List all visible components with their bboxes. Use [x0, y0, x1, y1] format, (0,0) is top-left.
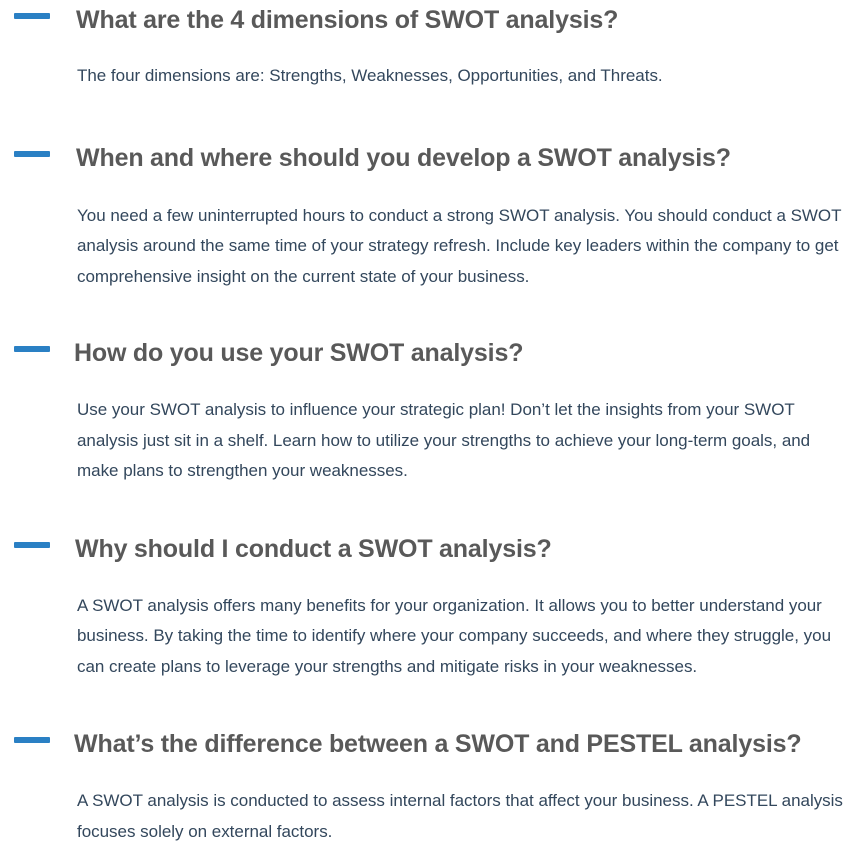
faq-answer-1: You need a few uninterrupted hours to co…	[77, 201, 847, 293]
faq-item: What are the 4 dimensions of SWOT analys…	[0, 0, 859, 92]
faq-item: When and where should you develop a SWOT…	[0, 138, 859, 293]
faq-question-4: What’s the difference between a SWOT and…	[74, 724, 842, 764]
faq-answer-0: The four dimensions are: Strengths, Weak…	[77, 61, 847, 92]
faq-item: Why should I conduct a SWOT analysis? A …	[0, 529, 859, 683]
faq-question-1: When and where should you develop a SWOT…	[76, 138, 844, 178]
minus-icon[interactable]	[14, 346, 50, 352]
faq-item: What’s the difference between a SWOT and…	[0, 724, 859, 847]
minus-icon[interactable]	[14, 737, 50, 743]
faq-item-header-2[interactable]: How do you use your SWOT analysis?	[0, 333, 859, 373]
faq-item-header-0[interactable]: What are the 4 dimensions of SWOT analys…	[0, 0, 859, 40]
faq-item-header-1[interactable]: When and where should you develop a SWOT…	[0, 138, 859, 178]
minus-icon[interactable]	[14, 151, 50, 157]
faq-item-header-4[interactable]: What’s the difference between a SWOT and…	[0, 724, 859, 764]
faq-question-2: How do you use your SWOT analysis?	[74, 333, 842, 373]
faq-item: How do you use your SWOT analysis? Use y…	[0, 333, 859, 487]
faq-answer-4: A SWOT analysis is conducted to assess i…	[77, 786, 847, 847]
minus-icon[interactable]	[14, 542, 50, 548]
faq-accordion: What are the 4 dimensions of SWOT analys…	[0, 0, 859, 847]
faq-question-3: Why should I conduct a SWOT analysis?	[75, 529, 843, 569]
faq-answer-3: A SWOT analysis offers many benefits for…	[77, 591, 847, 683]
faq-question-0: What are the 4 dimensions of SWOT analys…	[76, 0, 844, 40]
minus-icon[interactable]	[14, 13, 50, 19]
faq-answer-2: Use your SWOT analysis to influence your…	[77, 395, 847, 487]
faq-item-header-3[interactable]: Why should I conduct a SWOT analysis?	[0, 529, 859, 569]
